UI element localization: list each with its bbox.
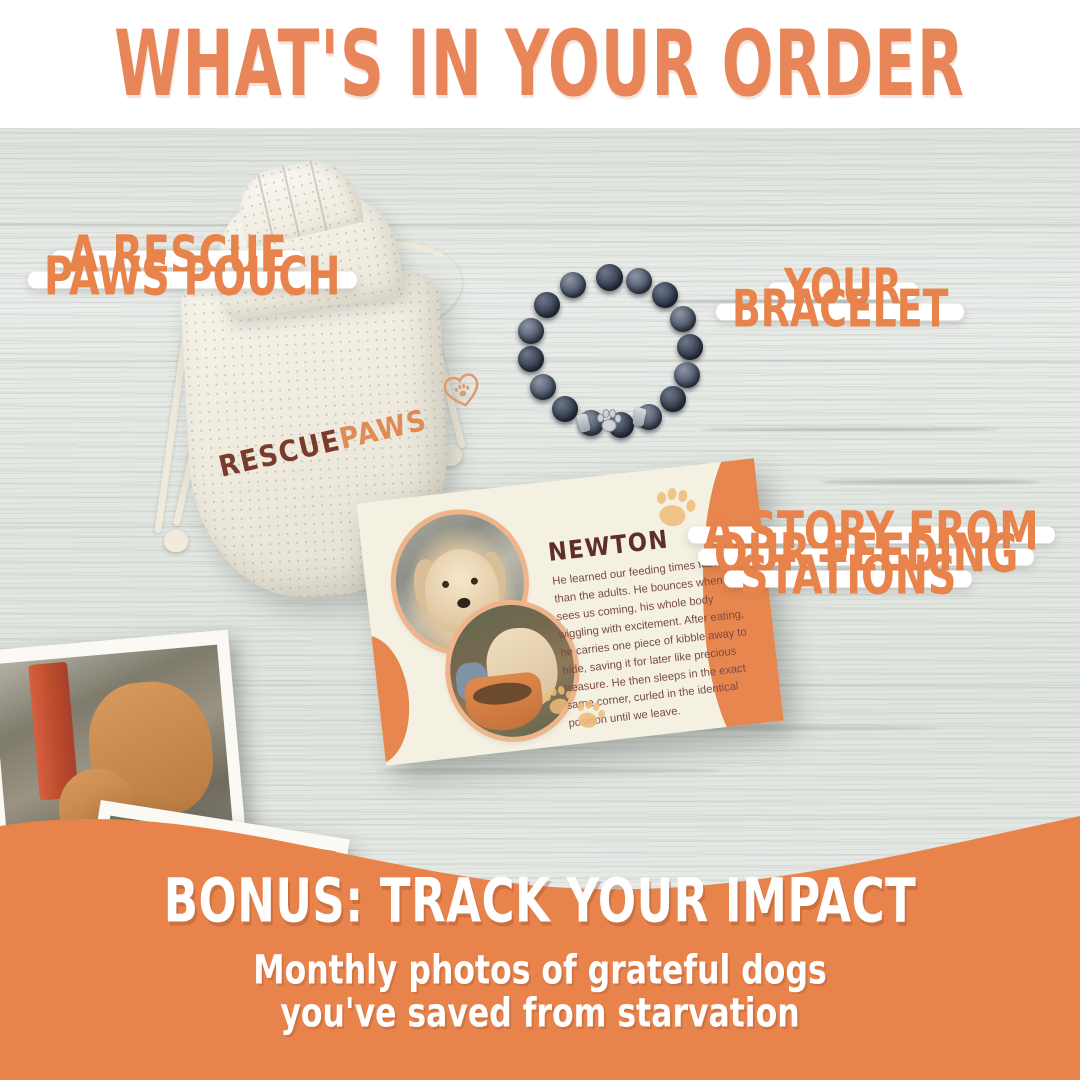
poster-canvas: WHAT'S IN YOUR ORDER [0,0,1080,1080]
banner-line-2: you've saved from starvation [0,990,1080,1039]
callout-bracelet-line-2: BRACELET [716,303,964,320]
header-band: WHAT'S IN YOUR ORDER [0,0,1080,128]
card-accent-left [356,631,415,766]
page-title: WHAT'S IN YOUR ORDER [115,11,966,118]
callout-story: A STORY FROM OUR FEEDING STATIONS [688,528,1055,587]
heart-paw-icon [436,365,488,414]
banner-line-1: Monthly photos of grateful dogs [0,947,1080,996]
paw-charm-icon [594,406,624,434]
callout-story-line-3: STATIONS [724,570,972,587]
callout-pouch-line-2: PAWS POUCH [28,271,357,288]
paw-charm-bracelet [516,266,706,441]
bonus-banner: BONUS: TRACK YOUR IMPACT Monthly photos … [0,780,1080,1080]
card-title: NEWTON [546,524,670,567]
callout-pouch: A RESCUE PAWS POUCH [52,252,357,288]
banner-heading: BONUS: TRACK YOUR IMPACT [0,866,1080,937]
callout-bracelet: YOUR BRACELET [752,284,964,320]
